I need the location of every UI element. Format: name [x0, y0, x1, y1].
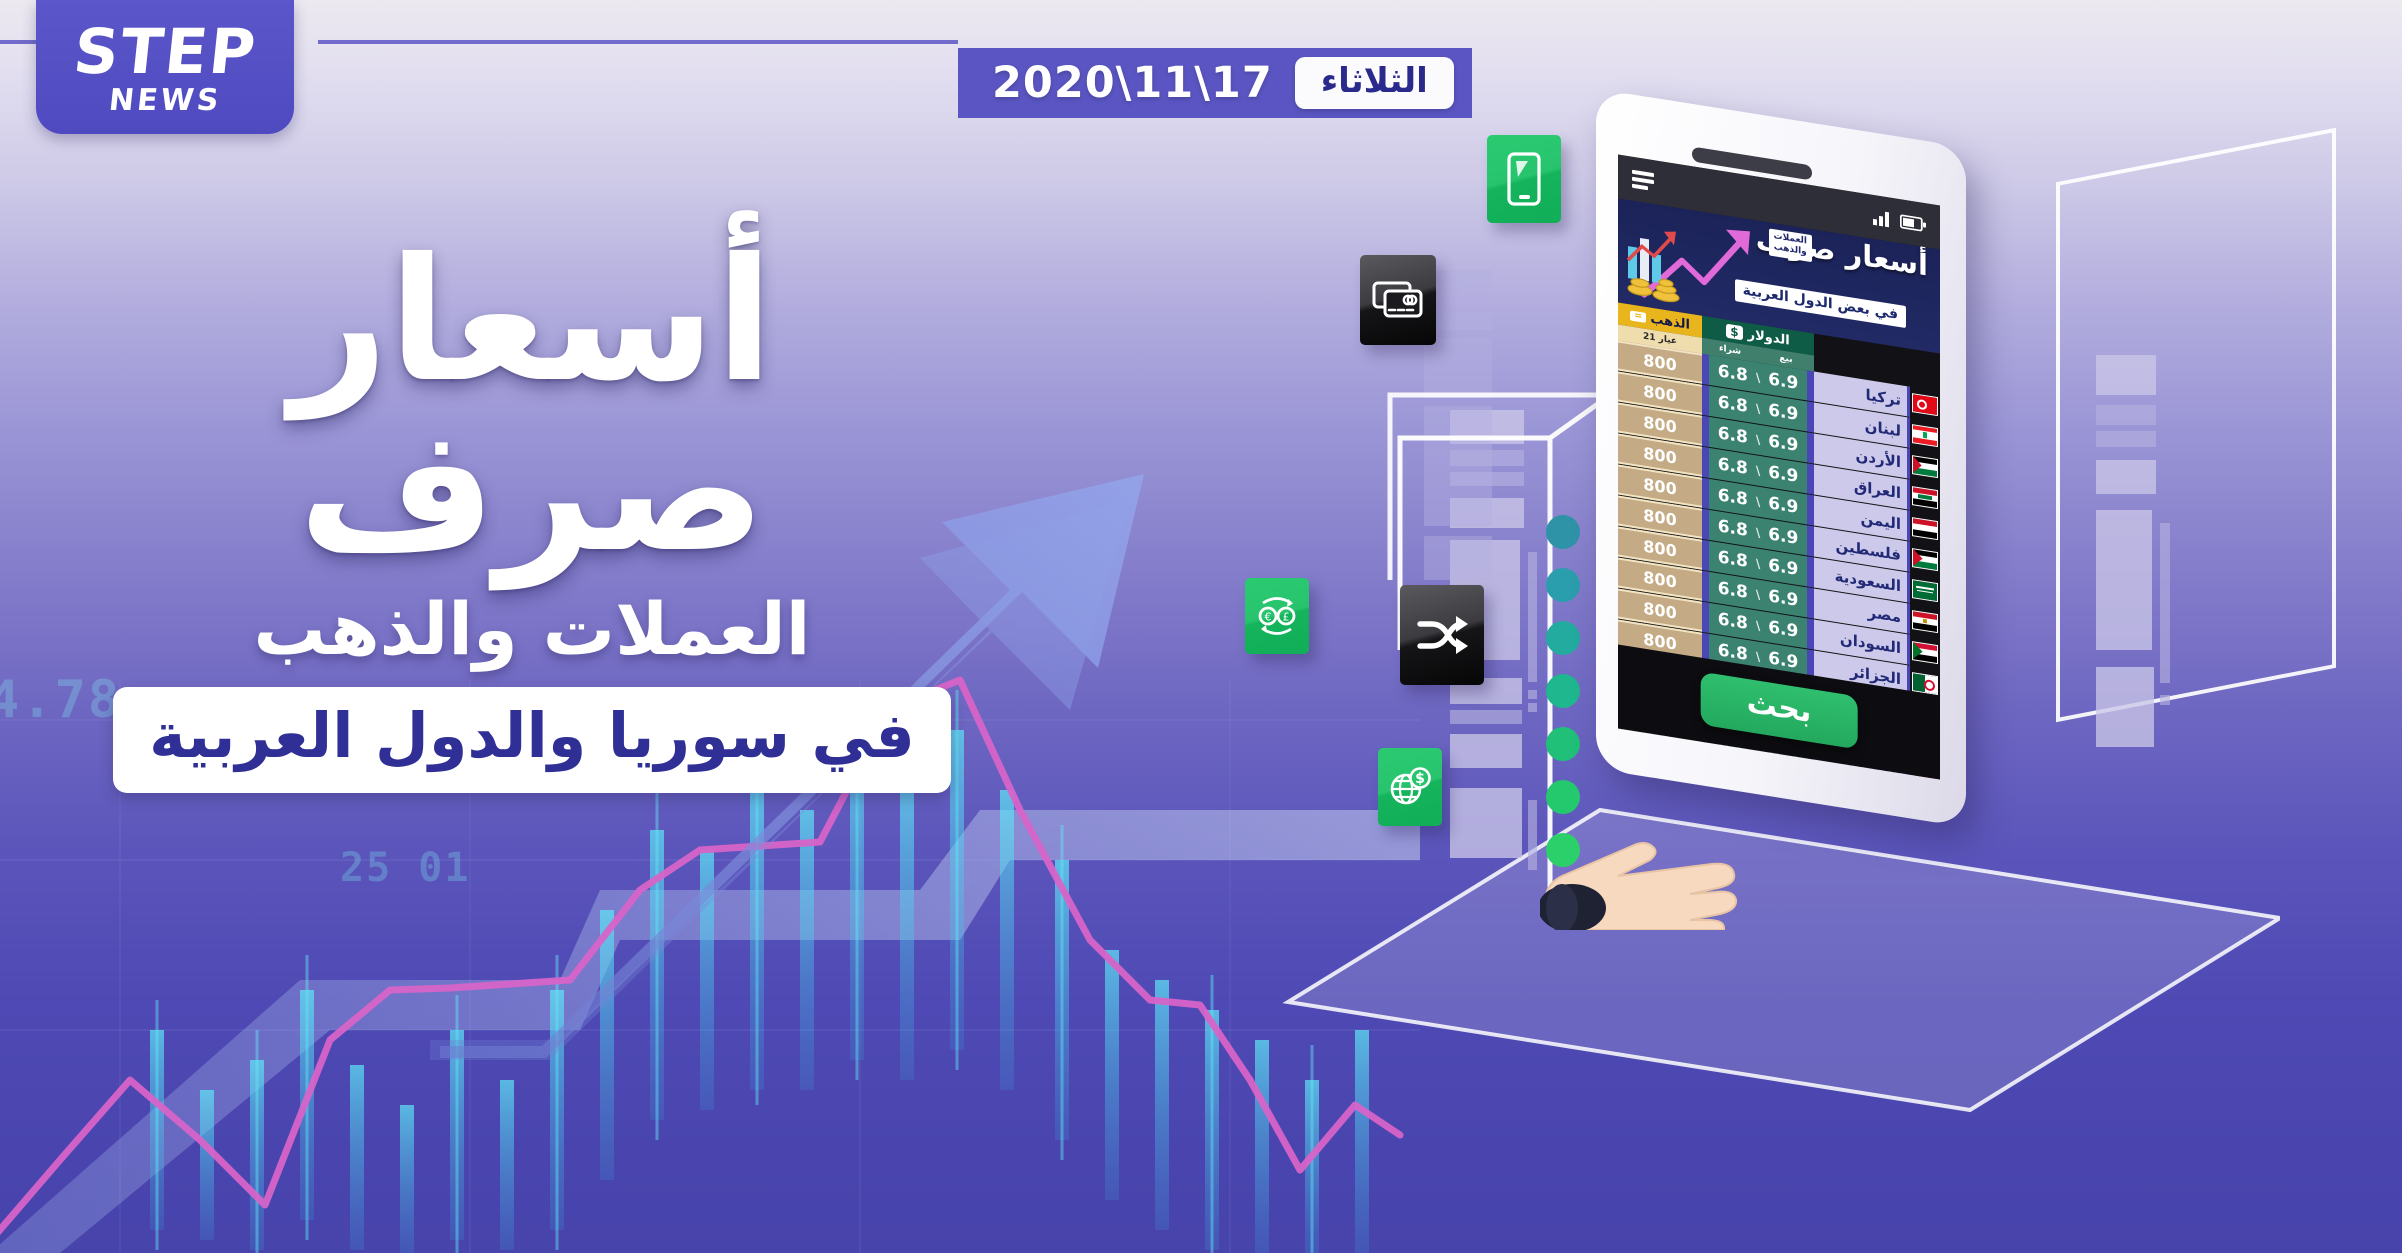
logo-step-text: STEP: [71, 23, 260, 82]
flag-iraq: [1912, 486, 1938, 509]
country-flag-cell: [1910, 573, 1940, 608]
app-header-gold-chart-icon: [1622, 219, 1694, 310]
usd-sell-value: 6.8: [1718, 454, 1748, 479]
usd-sell-value: 6.8: [1718, 547, 1748, 572]
headline-subtitle: العملات والذهب: [32, 588, 1032, 671]
flag-yemen: [1912, 517, 1938, 540]
usd-symbol-icon: $: [1726, 324, 1742, 341]
date-text: 2020\11\17: [992, 58, 1273, 108]
globe-dollar-icon: $: [1387, 764, 1433, 810]
tile-mobile[interactable]: [1487, 135, 1561, 223]
headline-block: أسعار صرف العملات والذهب في سوريا والدول…: [32, 236, 1032, 793]
usd-separator: \: [1756, 494, 1760, 509]
usd-separator: \: [1756, 649, 1760, 664]
credit-cards-icon: [1371, 278, 1425, 322]
flag-palestine: [1912, 548, 1938, 571]
usd-label: الدولار: [1748, 327, 1790, 349]
country-flag-cell: [1910, 511, 1940, 546]
usd-sell-value: 6.8: [1718, 578, 1748, 603]
country-flag-cell: [1910, 604, 1940, 639]
usd-sell-value: 6.8: [1718, 361, 1748, 386]
battery-icon: [1900, 214, 1926, 232]
tile-globe-dollar[interactable]: $: [1378, 748, 1442, 826]
usd-sell-value: 6.8: [1718, 423, 1748, 448]
tile-transfer[interactable]: [1400, 585, 1484, 685]
page-title: أسعار صرف: [32, 236, 1032, 576]
svg-text:$: $: [1415, 771, 1425, 787]
phone-screen[interactable]: أسعار صرف العملات والذهب في بعض الدول ال…: [1618, 155, 1940, 780]
header-rule-right: [318, 40, 958, 44]
usd-buy-value: 6.9: [1768, 493, 1798, 518]
flag-lebanon: [1912, 424, 1938, 447]
usd-separator: \: [1756, 463, 1760, 478]
tile-currency-exchange[interactable]: € £: [1245, 578, 1309, 654]
usd-buy-value: 6.9: [1768, 369, 1798, 394]
usd-separator: \: [1756, 618, 1760, 633]
infographic-canvas: STEP NEWS الثلاثاء 2020\11\17: [0, 0, 2402, 1253]
usd-sell-value: 6.8: [1718, 392, 1748, 417]
country-flag-cell: [1910, 387, 1940, 422]
search-button[interactable]: بحث: [1701, 672, 1858, 750]
weekday-badge: الثلاثاء: [1295, 57, 1454, 109]
usd-separator: \: [1756, 432, 1760, 447]
country-flag-cell: [1910, 418, 1940, 453]
svg-text:€: €: [1265, 611, 1272, 624]
country-flag-cell: [1910, 542, 1940, 577]
usd-buy-value: 6.9: [1768, 400, 1798, 425]
date-banner: الثلاثاء 2020\11\17: [958, 48, 1472, 118]
usd-separator: \: [1756, 587, 1760, 602]
country-flag-cell: [1910, 635, 1940, 670]
gold-label: الذهب: [1650, 311, 1690, 332]
usd-buy-value: 6.9: [1768, 462, 1798, 487]
step-news-logo[interactable]: STEP NEWS: [36, 0, 294, 134]
country-flag-cell: [1910, 449, 1940, 484]
flag-jordan: [1912, 455, 1938, 478]
usd-buy-value: 6.9: [1768, 524, 1798, 549]
flag-sudan: [1912, 641, 1938, 664]
signal-bars-icon: [1873, 209, 1893, 228]
pointing-hand-cursor: [1540, 790, 1800, 930]
tile-credit-cards[interactable]: [1360, 255, 1436, 345]
svg-text:£: £: [1283, 611, 1290, 624]
country-flag-cell: [1910, 480, 1940, 515]
usd-sell-value: 6.8: [1718, 485, 1748, 510]
usd-sell-value: 6.8: [1718, 609, 1748, 634]
usd-separator: \: [1756, 556, 1760, 571]
usd-sell-value: 6.8: [1718, 516, 1748, 541]
usd-separator: \: [1756, 370, 1760, 385]
flag-saudi: [1912, 579, 1938, 602]
flag-egypt: [1912, 610, 1938, 633]
hamburger-menu-icon[interactable]: [1632, 167, 1654, 194]
headline-badge: في سوريا والدول العربية: [113, 687, 951, 793]
flag-turkey: [1912, 393, 1938, 416]
gold-symbol-icon: =: [1630, 310, 1646, 323]
usd-buy-value: 6.9: [1768, 586, 1798, 611]
usd-buy-value: 6.9: [1768, 555, 1798, 580]
transfer-shuffle-icon: [1414, 612, 1470, 658]
smartphone-mockup: أسعار صرف العملات والذهب في بعض الدول ال…: [1596, 118, 1966, 798]
logo-news-text: NEWS: [107, 84, 223, 117]
usd-separator: \: [1756, 401, 1760, 416]
app-subtitle: في بعض الدول العربية: [1735, 279, 1906, 328]
wireframe-panel-right: [2056, 155, 2356, 715]
usd-buy-value: 6.9: [1768, 617, 1798, 642]
mobile-phone-icon: [1504, 151, 1544, 207]
usd-buy-value: 6.9: [1768, 431, 1798, 456]
usd-separator: \: [1756, 525, 1760, 540]
currency-exchange-icon: € £: [1255, 590, 1299, 642]
